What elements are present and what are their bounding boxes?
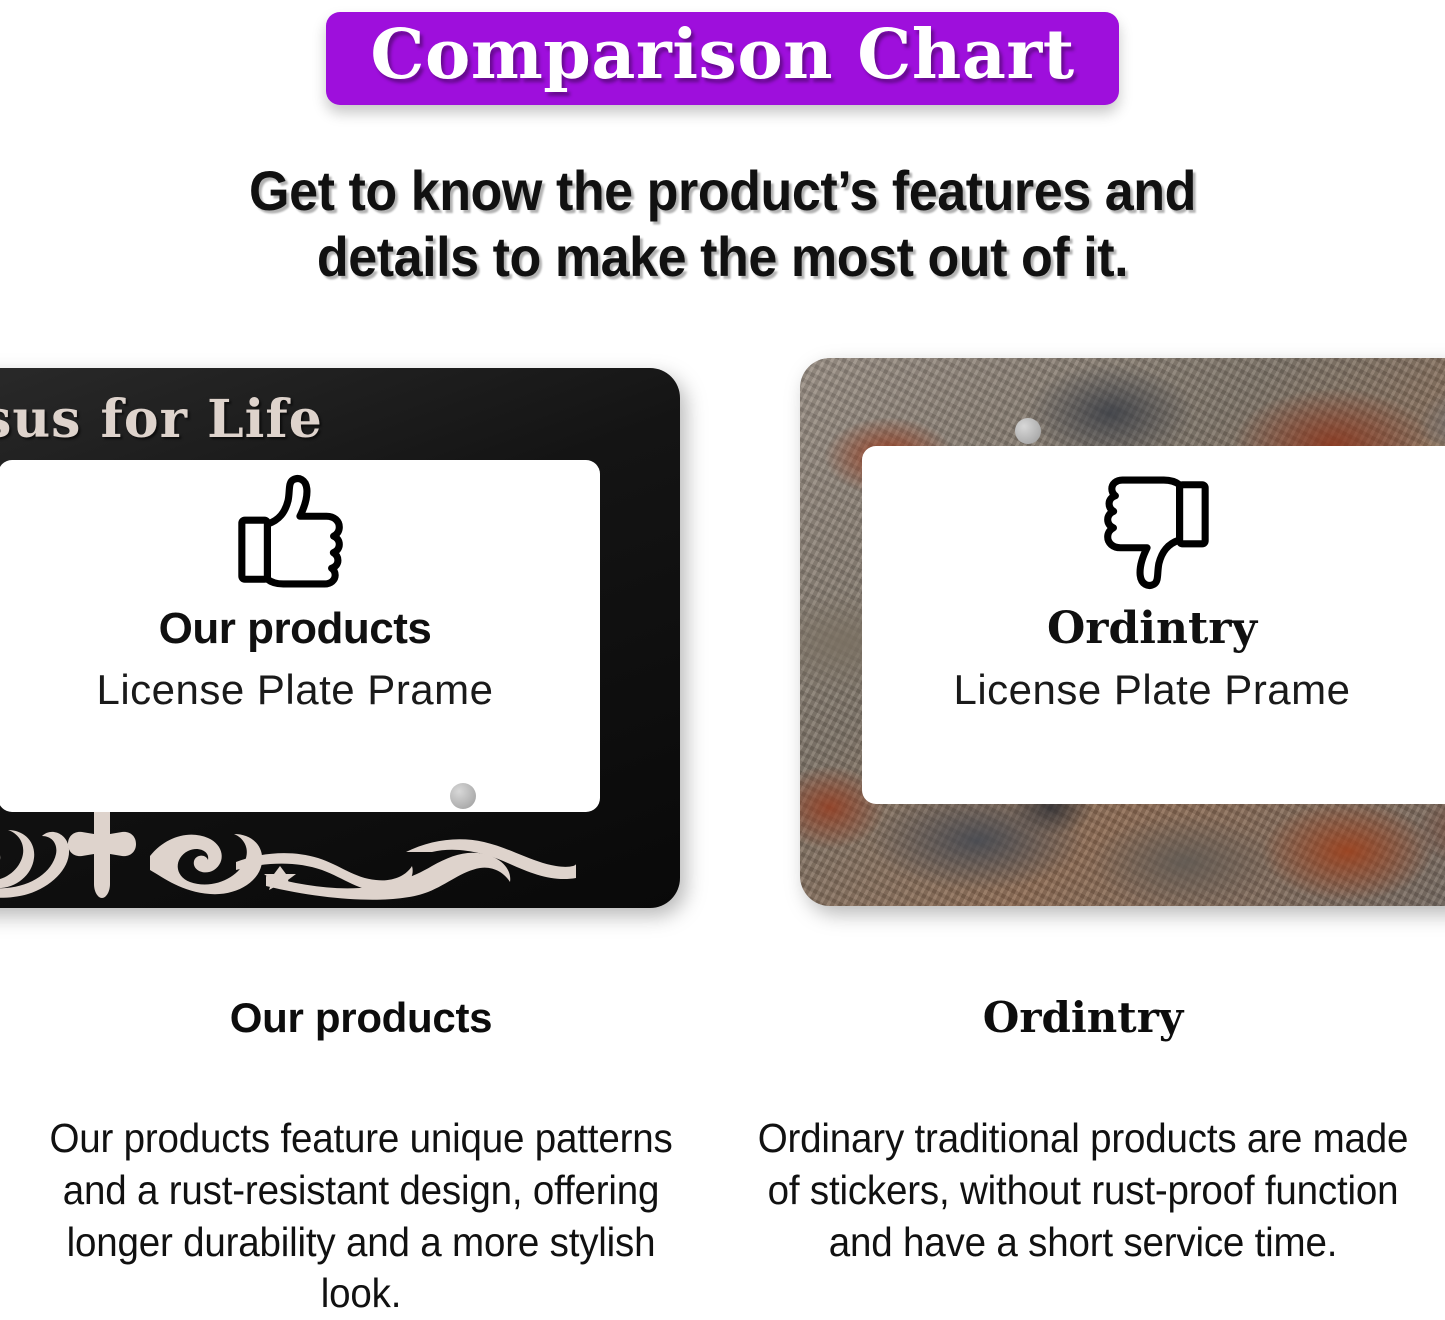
- thumbs-down-icon: [1089, 472, 1215, 592]
- ordinary-product-description-column: Ordintry Ordinary traditional products a…: [722, 995, 1444, 1320]
- tribal-cross-ornament-icon: [0, 804, 576, 900]
- ordinary-product-description: Ordinary traditional products are made o…: [755, 1113, 1411, 1268]
- frame-slogan-text: esus for Life: [0, 394, 323, 446]
- card-subtitle-left: License Plate Prame: [0, 668, 590, 712]
- card-title-our-products: Our products: [0, 606, 590, 652]
- our-product-heading: Our products: [12, 995, 710, 1041]
- ordinary-product-card-content: Ordintry License Plate Prame: [862, 472, 1442, 712]
- our-product-card-content: Our products License Plate Prame: [0, 472, 590, 712]
- mounting-hole-right: [1015, 418, 1041, 444]
- our-product-description: Our products feature unique patterns and…: [33, 1113, 689, 1320]
- card-subtitle-right: License Plate Prame: [862, 668, 1442, 712]
- card-title-ordintry: Ordintry: [862, 606, 1442, 652]
- thumbs-up-icon: [232, 472, 358, 592]
- ordinary-product-heading: Ordintry: [734, 995, 1432, 1041]
- comparison-description-row: Our products Our products feature unique…: [0, 995, 1445, 1320]
- our-product-description-column: Our products Our products feature unique…: [0, 995, 722, 1320]
- mounting-hole-left: [450, 783, 476, 809]
